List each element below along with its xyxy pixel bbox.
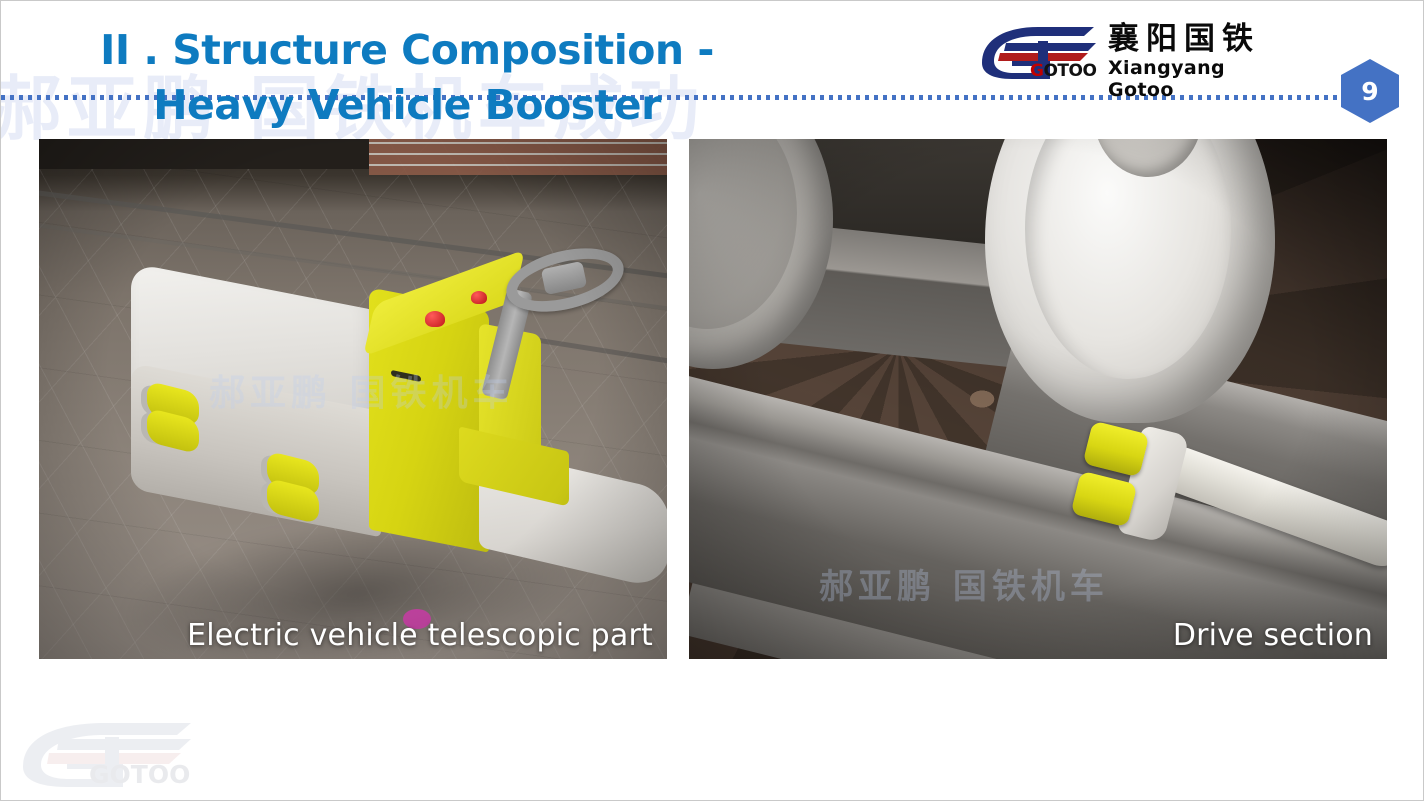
company-logo: GOTOO 襄阳国铁 Xiangyang Gotoo bbox=[976, 23, 1296, 85]
gotoo-swoosh-icon: GOTOO bbox=[976, 23, 1104, 83]
company-name-english: Xiangyang Gotoo bbox=[1108, 57, 1296, 101]
gotoo-wordmark-g: G bbox=[1030, 61, 1043, 81]
page-number-label: 9 bbox=[1361, 77, 1378, 106]
page-title-line-2: Heavy Vehicle Booster bbox=[57, 78, 757, 133]
company-name-block: 襄阳国铁 Xiangyang Gotoo bbox=[1108, 23, 1296, 101]
figure-left-image: 郝亚鹏 国铁机车 Electric vehicle telescopic par… bbox=[39, 139, 667, 659]
background-brick-wall bbox=[369, 139, 667, 175]
figure-right-image: 郝亚鹏 国铁机车 Drive section bbox=[689, 139, 1387, 659]
footer-gotoo-wordmark: GOTOO bbox=[89, 760, 190, 789]
page-title: II . Structure Composition - Heavy Vehic… bbox=[57, 23, 757, 132]
figure-right-caption: Drive section bbox=[1173, 618, 1373, 653]
gotoo-wordmark: GOTOO bbox=[1030, 61, 1096, 81]
footer-gotoo-logo: GOTOO bbox=[15, 717, 215, 793]
emergency-stop-button-1 bbox=[425, 311, 445, 327]
slide-canvas: 郝亚鹏 国铁机车成功 II . Structure Composition - … bbox=[0, 0, 1424, 801]
left-photo-watermark: 郝亚鹏 国铁机车 bbox=[209, 364, 514, 416]
page-title-line-1: II . Structure Composition - bbox=[57, 23, 757, 78]
page-number-badge: 9 bbox=[1341, 59, 1399, 123]
right-photo-watermark: 郝亚鹏 国铁机车 bbox=[819, 559, 1109, 608]
background-wall-dark bbox=[39, 139, 369, 169]
emergency-stop-button-2 bbox=[471, 291, 487, 304]
gotoo-wordmark-rest: OTOO bbox=[1043, 61, 1096, 81]
figure-left-caption: Electric vehicle telescopic part bbox=[187, 618, 653, 653]
company-name-chinese: 襄阳国铁 bbox=[1108, 23, 1296, 56]
